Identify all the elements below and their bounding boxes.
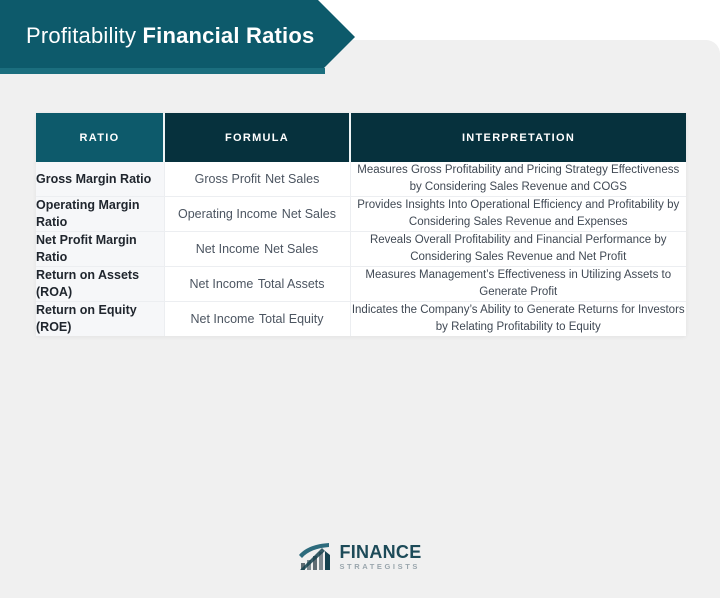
interpretation-text: Indicates the Company’s Ability to Gener… bbox=[350, 302, 686, 337]
table-row: Operating Margin Ratio Operating Income … bbox=[36, 197, 686, 232]
ratio-name: Gross Margin Ratio bbox=[36, 162, 164, 197]
brand-logo: FINANCE STRATEGISTS bbox=[0, 536, 720, 578]
table-header-row: RATIO FORMULA INTERPRETATION bbox=[36, 113, 686, 162]
fraction-denominator: Net Sales bbox=[282, 207, 336, 221]
fraction-numerator: Net Income bbox=[189, 277, 253, 291]
fraction-denominator: Net Sales bbox=[265, 172, 319, 186]
interpretation-text: Measures Gross Profitability and Pricing… bbox=[350, 162, 686, 197]
ratio-name: Return on Assets (ROA) bbox=[36, 267, 164, 302]
fraction: Net Income Net Sales bbox=[196, 240, 319, 259]
table-header: RATIO FORMULA INTERPRETATION bbox=[36, 113, 686, 162]
interpretation-text: Reveals Overall Profitability and Financ… bbox=[350, 232, 686, 267]
brand-name: FINANCE bbox=[339, 543, 421, 561]
table-row: Return on Assets (ROA) Net Income Total … bbox=[36, 267, 686, 302]
fraction-numerator: Net Income bbox=[196, 242, 260, 256]
brand-tagline: STRATEGISTS bbox=[339, 563, 421, 571]
fraction: Gross Profit Net Sales bbox=[195, 170, 320, 189]
header-banner-underline bbox=[0, 68, 325, 74]
fraction: Net Income Total Assets bbox=[189, 275, 324, 294]
page-title-light: Profitability bbox=[26, 23, 136, 48]
ratio-name: Operating Margin Ratio bbox=[36, 197, 164, 232]
fraction: Net Income Total Equity bbox=[191, 310, 324, 329]
fraction-denominator: Total Assets bbox=[258, 277, 325, 291]
column-header-ratio: RATIO bbox=[36, 113, 164, 162]
brand-wordmark: FINANCE STRATEGISTS bbox=[339, 543, 421, 571]
fraction-denominator: Total Equity bbox=[259, 312, 324, 326]
profitability-ratios-table: RATIO FORMULA INTERPRETATION Gross Margi… bbox=[36, 113, 686, 336]
page-title: Profitability Financial Ratios bbox=[26, 21, 314, 51]
table-row: Gross Margin Ratio Gross Profit Net Sale… bbox=[36, 162, 686, 197]
fraction-numerator: Operating Income bbox=[178, 207, 277, 221]
column-header-formula: FORMULA bbox=[164, 113, 350, 162]
formula-cell: Net Income Net Sales bbox=[164, 232, 350, 267]
interpretation-text: Measures Management’s Effectiveness in U… bbox=[350, 267, 686, 302]
formula-cell: Operating Income Net Sales bbox=[164, 197, 350, 232]
formula-cell: Net Income Total Equity bbox=[164, 302, 350, 337]
fraction-numerator: Gross Profit bbox=[195, 172, 261, 186]
fraction-denominator: Net Sales bbox=[264, 242, 318, 256]
page-title-bold: Financial Ratios bbox=[143, 23, 315, 48]
interpretation-text: Provides Insights Into Operational Effic… bbox=[350, 197, 686, 232]
fraction-numerator: Net Income bbox=[191, 312, 255, 326]
ratio-name: Return on Equity (ROE) bbox=[36, 302, 164, 337]
ratio-name: Net Profit Margin Ratio bbox=[36, 232, 164, 267]
table-row: Net Profit Margin Ratio Net Income Net S… bbox=[36, 232, 686, 267]
column-header-interpretation: INTERPRETATION bbox=[350, 113, 686, 162]
formula-cell: Gross Profit Net Sales bbox=[164, 162, 350, 197]
table-body: Gross Margin Ratio Gross Profit Net Sale… bbox=[36, 162, 686, 336]
bar-chart-arrow-icon bbox=[298, 542, 332, 572]
formula-cell: Net Income Total Assets bbox=[164, 267, 350, 302]
table-row: Return on Equity (ROE) Net Income Total … bbox=[36, 302, 686, 337]
fraction: Operating Income Net Sales bbox=[178, 205, 336, 224]
